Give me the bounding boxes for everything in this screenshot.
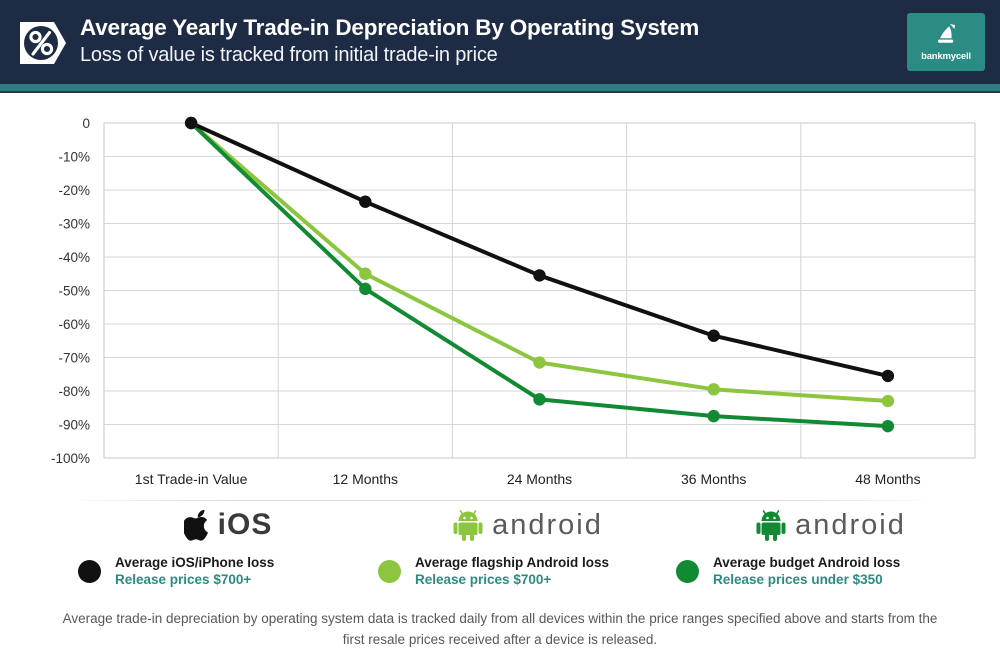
legend-swatch-ios xyxy=(78,560,101,583)
series-point xyxy=(708,410,720,422)
series-point xyxy=(533,356,545,368)
series-line xyxy=(191,123,888,376)
apple-icon xyxy=(184,510,210,541)
y-axis-tick-label: 0 xyxy=(82,116,90,131)
y-axis-tick-label: -50% xyxy=(58,284,90,299)
legend-os-header-flagship: android xyxy=(378,505,678,545)
series-point xyxy=(359,196,371,208)
legend-divider xyxy=(62,500,938,501)
series-point xyxy=(882,370,894,382)
android-robot-icon xyxy=(756,509,786,541)
page-title: Average Yearly Trade-in Depreciation By … xyxy=(80,14,699,42)
y-axis-tick-label: -30% xyxy=(58,217,90,232)
footer-note: Average trade-in depreciation by operati… xyxy=(50,608,950,650)
legend-group-ios: iOS Average iOS/iPhone loss Release pric… xyxy=(78,505,378,589)
x-axis-tick-label: 1st Trade-in Value xyxy=(135,471,248,487)
y-axis-tick-label: -90% xyxy=(58,418,90,433)
bankmycell-mark-icon xyxy=(931,22,961,50)
series-point xyxy=(708,330,720,342)
page-header: Average Yearly Trade-in Depreciation By … xyxy=(0,0,1000,84)
y-axis-tick-label: -60% xyxy=(58,317,90,332)
legend-item-ios[interactable]: Average iOS/iPhone loss Release prices $… xyxy=(78,555,378,589)
series-point xyxy=(882,395,894,407)
bankmycell-logo[interactable]: bankmycell xyxy=(907,13,985,71)
x-axis-tick-label: 24 Months xyxy=(507,471,572,487)
y-axis-tick-label: -40% xyxy=(58,250,90,265)
legend-swatch-flagship xyxy=(378,560,401,583)
series-point xyxy=(708,383,720,395)
y-axis-tick-label: -70% xyxy=(58,351,90,366)
legend-os-label-ios: iOS xyxy=(218,510,273,540)
legend-os-label-budget: android xyxy=(795,510,906,540)
legend-series-sublabel-budget: Release prices under $350 xyxy=(713,572,900,589)
legend-item-budget-android[interactable]: Average budget Android loss Release pric… xyxy=(676,555,986,589)
legend-series-name-ios: Average iOS/iPhone loss xyxy=(115,555,274,572)
depreciation-line-chart: 0-10%-20%-30%-40%-50%-60%-70%-80%-90%-10… xyxy=(0,93,1000,493)
legend-series-sublabel-flagship: Release prices $700+ xyxy=(415,572,609,589)
legend-swatch-budget xyxy=(676,560,699,583)
legend-os-header-budget: android xyxy=(676,505,986,545)
series-point xyxy=(882,420,894,432)
page-subtitle: Loss of value is tracked from initial tr… xyxy=(80,42,699,69)
percent-tag-icon xyxy=(16,18,68,68)
logo-text: bankmycell xyxy=(921,51,971,62)
chart-legend: iOS Average iOS/iPhone loss Release pric… xyxy=(0,505,1000,600)
y-axis-tick-label: -20% xyxy=(58,183,90,198)
series-point xyxy=(533,393,545,405)
series-point xyxy=(359,283,371,295)
series-point xyxy=(359,268,371,280)
series-point xyxy=(185,117,197,129)
y-axis-tick-label: -100% xyxy=(51,451,90,466)
legend-series-sublabel-ios: Release prices $700+ xyxy=(115,572,274,589)
header-accent-bar xyxy=(0,84,1000,91)
x-axis-tick-label: 48 Months xyxy=(855,471,920,487)
android-robot-icon xyxy=(453,509,483,541)
legend-os-label-flagship: android xyxy=(492,510,603,540)
y-axis-tick-label: -10% xyxy=(58,150,90,165)
legend-group-budget-android: android Average budget Android loss Rele… xyxy=(676,505,986,589)
chart-area: 0-10%-20%-30%-40%-50%-60%-70%-80%-90%-10… xyxy=(0,93,1000,493)
series-point xyxy=(533,269,545,281)
header-titles: Average Yearly Trade-in Depreciation By … xyxy=(80,14,699,69)
y-axis-tick-label: -80% xyxy=(58,384,90,399)
x-axis-tick-label: 36 Months xyxy=(681,471,746,487)
legend-series-name-flagship: Average flagship Android loss xyxy=(415,555,609,572)
legend-series-name-budget: Average budget Android loss xyxy=(713,555,900,572)
legend-os-header-ios: iOS xyxy=(78,505,378,545)
x-axis-tick-label: 12 Months xyxy=(333,471,398,487)
legend-group-flagship-android: android Average flagship Android loss Re… xyxy=(378,505,678,589)
legend-item-flagship-android[interactable]: Average flagship Android loss Release pr… xyxy=(378,555,678,589)
